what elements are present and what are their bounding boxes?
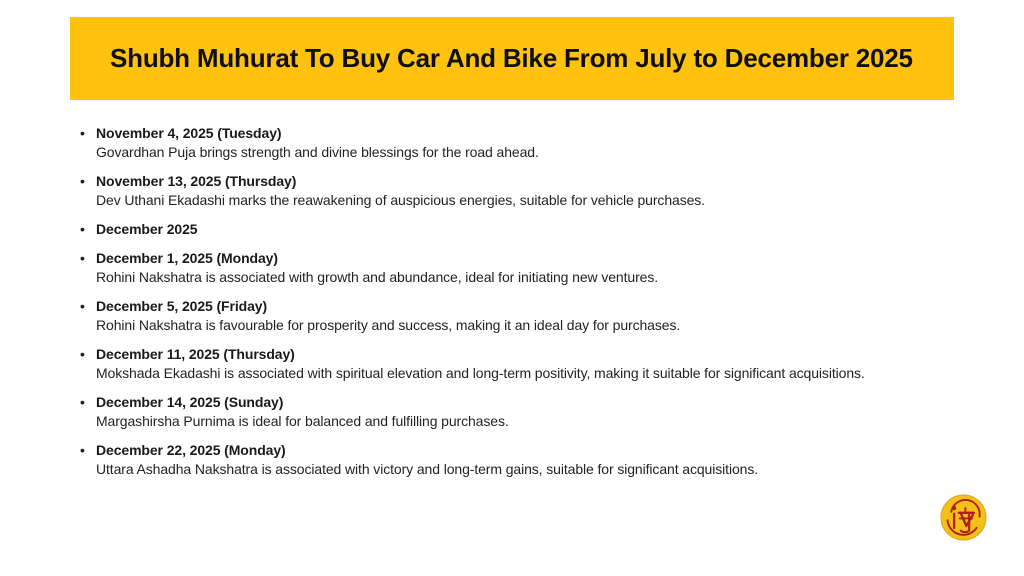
list-item-heading: November 4, 2025 (Tuesday) bbox=[96, 124, 890, 143]
bullet-dot-icon: • bbox=[80, 393, 85, 412]
list-item-description: Govardhan Puja brings strength and divin… bbox=[96, 143, 886, 162]
list-item: • November 4, 2025 (Tuesday) Govardhan P… bbox=[78, 124, 890, 162]
bullet-dot-icon: • bbox=[80, 220, 85, 239]
list-item: • December 5, 2025 (Friday) Rohini Naksh… bbox=[78, 297, 890, 335]
slide-canvas: Shubh Muhurat To Buy Car And Bike From J… bbox=[0, 0, 1024, 576]
list-item-description: Margashirsha Purnima is ideal for balanc… bbox=[96, 412, 886, 431]
title-banner: Shubh Muhurat To Buy Car And Bike From J… bbox=[70, 17, 954, 100]
list-item-heading: December 14, 2025 (Sunday) bbox=[96, 393, 890, 412]
list-item: • December 22, 2025 (Monday) Uttara Asha… bbox=[78, 441, 890, 479]
list-item: • December 1, 2025 (Monday) Rohini Naksh… bbox=[78, 249, 890, 287]
bullet-dot-icon: • bbox=[80, 441, 85, 460]
list-item: • November 13, 2025 (Thursday) Dev Uthan… bbox=[78, 172, 890, 210]
bullet-dot-icon: • bbox=[80, 172, 85, 191]
list-item-heading: December 1, 2025 (Monday) bbox=[96, 249, 890, 268]
list-item-heading: December 11, 2025 (Thursday) bbox=[96, 345, 890, 364]
list-item-heading: December 22, 2025 (Monday) bbox=[96, 441, 890, 460]
list-item-heading: December 5, 2025 (Friday) bbox=[96, 297, 890, 316]
bullet-dot-icon: • bbox=[80, 345, 85, 364]
bullet-dot-icon: • bbox=[80, 124, 85, 143]
bullet-list: • November 4, 2025 (Tuesday) Govardhan P… bbox=[78, 124, 890, 479]
list-item: • December 14, 2025 (Sunday) Margashirsh… bbox=[78, 393, 890, 431]
list-item: • December 2025 bbox=[78, 220, 890, 239]
list-item-description: Rohini Nakshatra is associated with grow… bbox=[96, 268, 886, 287]
page-title: Shubh Muhurat To Buy Car And Bike From J… bbox=[70, 44, 913, 73]
list-item-description: Rohini Nakshatra is favourable for prosp… bbox=[96, 316, 886, 335]
list-item-description: Mokshada Ekadashi is associated with spi… bbox=[96, 364, 886, 383]
bullet-dot-icon: • bbox=[80, 297, 85, 316]
bullet-dot-icon: • bbox=[80, 249, 85, 268]
list-item-description: Dev Uthani Ekadashi marks the reawakenin… bbox=[96, 191, 886, 210]
list-item-heading: December 2025 bbox=[96, 220, 890, 239]
brand-logo-icon bbox=[940, 494, 987, 541]
list-item-heading: November 13, 2025 (Thursday) bbox=[96, 172, 890, 191]
list-item-description: Uttara Ashadha Nakshatra is associated w… bbox=[96, 460, 886, 479]
list-item: • December 11, 2025 (Thursday) Mokshada … bbox=[78, 345, 890, 383]
